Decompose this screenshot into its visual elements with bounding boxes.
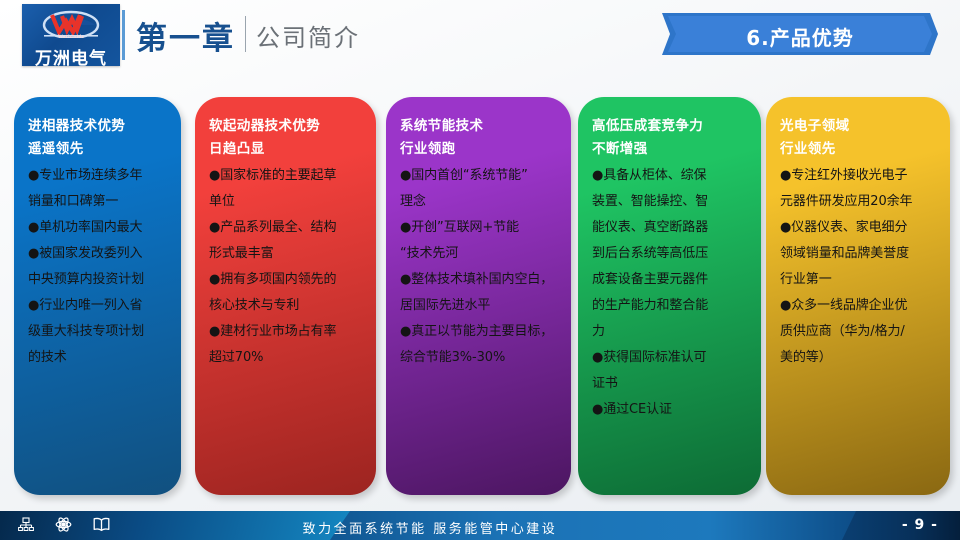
card-bullet-line: ●仪器仪表、家电细分	[780, 215, 938, 241]
card-bullet-line: ●产品系列最全、结构	[209, 215, 364, 241]
card-phase-shifter: 进相器技术优势遥遥领先●专业市场连续多年销量和口碑第一●单机功率国内最大●被国家…	[14, 97, 181, 495]
card-optoelectronics: 光电子领域行业领先●专注红外接收光电子元器件研发应用20余年●仪器仪表、家电细分…	[766, 97, 950, 495]
card-bullet-line: ●被国家发改委列入	[28, 241, 169, 267]
card-heading-line1: 进相器技术优势	[28, 115, 169, 138]
section-badge-label: 6.产品优势	[662, 22, 938, 51]
card-bullet-line: 的生产能力和整合能	[592, 293, 749, 319]
card-heading-line2: 行业领跑	[400, 138, 559, 161]
card-bullet-line: ●真正以节能为主要目标，	[400, 319, 559, 345]
card-bullet-line: ●国内首创“系统节能”	[400, 163, 559, 189]
logo-chinese-text: 万洲电气	[22, 44, 120, 66]
card-heading-line1: 软起动器技术优势	[209, 115, 364, 138]
card-soft-starter: 软起动器技术优势日趋凸显●国家标准的主要起草单位●产品系列最全、结构形式最丰富●…	[195, 97, 376, 495]
card-bullet-line: ●专业市场连续多年	[28, 163, 169, 189]
card-bullet-line: ●行业内唯一列入省	[28, 293, 169, 319]
advantage-cards: 进相器技术优势遥遥领先●专业市场连续多年销量和口碑第一●单机功率国内最大●被国家…	[0, 97, 960, 497]
card-bullet-line: 行业第一	[780, 267, 938, 293]
card-heading-line2: 遥遥领先	[28, 138, 169, 161]
slide-footer: 致力全面系统节能 服务能管中心建设 - 9 -	[0, 511, 960, 540]
chapter-subtitle: 公司简介	[256, 18, 360, 53]
chapter-title: 第一章	[136, 13, 235, 58]
footer-tagline: 致力全面系统节能 服务能管中心建设	[0, 518, 860, 537]
card-bullet-line: ●整体技术填补国内空白，	[400, 267, 559, 293]
worldwide-w-emblem-icon	[42, 10, 100, 38]
card-bullet-line: 质供应商（华为/格力/	[780, 319, 938, 345]
card-bullet-line: “技术先河	[400, 241, 559, 267]
card-bullet-line: ●单机功率国内最大	[28, 215, 169, 241]
card-heading-line1: 系统节能技术	[400, 115, 559, 138]
card-bullet-line: 元器件研发应用20余年	[780, 189, 938, 215]
card-bullet-line: 超过70%	[209, 345, 364, 371]
card-bullet-line: 中央预算内投资计划	[28, 267, 169, 293]
card-bullet-list: ●国家标准的主要起草单位●产品系列最全、结构形式最丰富●拥有多项国内领先的核心技…	[209, 163, 364, 371]
card-bullet-line: ●拥有多项国内领先的	[209, 267, 364, 293]
card-bullet-line: 美的等）	[780, 345, 938, 371]
card-heading-line1: 高低压成套竞争力	[592, 115, 749, 138]
card-bullet-line: ●国家标准的主要起草	[209, 163, 364, 189]
section-badge: 6.产品优势	[662, 13, 938, 55]
card-switchgear: 高低压成套竞争力不断增强●具备从柜体、综保装置、智能操控、智能仪表、真空断路器到…	[578, 97, 761, 495]
card-bullet-list: ●专注红外接收光电子元器件研发应用20余年●仪器仪表、家电细分领域销量和品牌美誉…	[780, 163, 938, 371]
card-bullet-line: 装置、智能操控、智	[592, 189, 749, 215]
card-bullet-line: 销量和口碑第一	[28, 189, 169, 215]
card-heading-line2: 行业领先	[780, 138, 938, 161]
slide-canvas: Worldwide 万洲电气 第一章 公司简介 6.产品优势 进相器技术优势遥遥…	[0, 0, 960, 540]
header-divider	[122, 10, 125, 60]
card-heading-line2: 日趋凸显	[209, 138, 364, 161]
logo-latin-text: Worldwide	[22, 35, 120, 40]
card-bullet-line: 形式最丰富	[209, 241, 364, 267]
card-bullet-list: ●国内首创“系统节能”理念●开创”互联网+节能“技术先河●整体技术填补国内空白，…	[400, 163, 559, 371]
card-bullet-line: 力	[592, 319, 749, 345]
card-bullet-line: ●通过CE认证	[592, 397, 749, 423]
card-system-energy-saving: 系统节能技术行业领跑●国内首创“系统节能”理念●开创”互联网+节能“技术先河●整…	[386, 97, 571, 495]
page-number: - 9 -	[902, 517, 938, 533]
company-logo: Worldwide 万洲电气	[22, 4, 120, 66]
card-bullet-list: ●专业市场连续多年销量和口碑第一●单机功率国内最大●被国家发改委列入中央预算内投…	[28, 163, 169, 371]
card-bullet-line: 单位	[209, 189, 364, 215]
card-bullet-line: ●获得国际标准认可	[592, 345, 749, 371]
card-bullet-list: ●具备从柜体、综保装置、智能操控、智能仪表、真空断路器到后台系统等高低压成套设备…	[592, 163, 749, 423]
card-bullet-line: 理念	[400, 189, 559, 215]
card-bullet-line: ●专注红外接收光电子	[780, 163, 938, 189]
card-bullet-line: ●具备从柜体、综保	[592, 163, 749, 189]
card-bullet-line: ●开创”互联网+节能	[400, 215, 559, 241]
title-separator	[245, 16, 246, 52]
card-bullet-line: 成套设备主要元器件	[592, 267, 749, 293]
card-bullet-line: 综合节能3%-30%	[400, 345, 559, 371]
card-heading-line1: 光电子领域	[780, 115, 938, 138]
card-heading-line2: 不断增强	[592, 138, 749, 161]
card-bullet-line: 核心技术与专利	[209, 293, 364, 319]
card-bullet-line: 的技术	[28, 345, 169, 371]
card-bullet-line: ●众多一线品牌企业优	[780, 293, 938, 319]
card-bullet-line: ●建材行业市场占有率	[209, 319, 364, 345]
slide-header: Worldwide 万洲电气 第一章 公司简介 6.产品优势	[0, 0, 960, 72]
card-bullet-line: 到后台系统等高低压	[592, 241, 749, 267]
card-bullet-line: 领域销量和品牌美誉度	[780, 241, 938, 267]
card-bullet-line: 级重大科技专项计划	[28, 319, 169, 345]
card-bullet-line: 居国际先进水平	[400, 293, 559, 319]
card-bullet-line: 能仪表、真空断路器	[592, 215, 749, 241]
card-bullet-line: 证书	[592, 371, 749, 397]
